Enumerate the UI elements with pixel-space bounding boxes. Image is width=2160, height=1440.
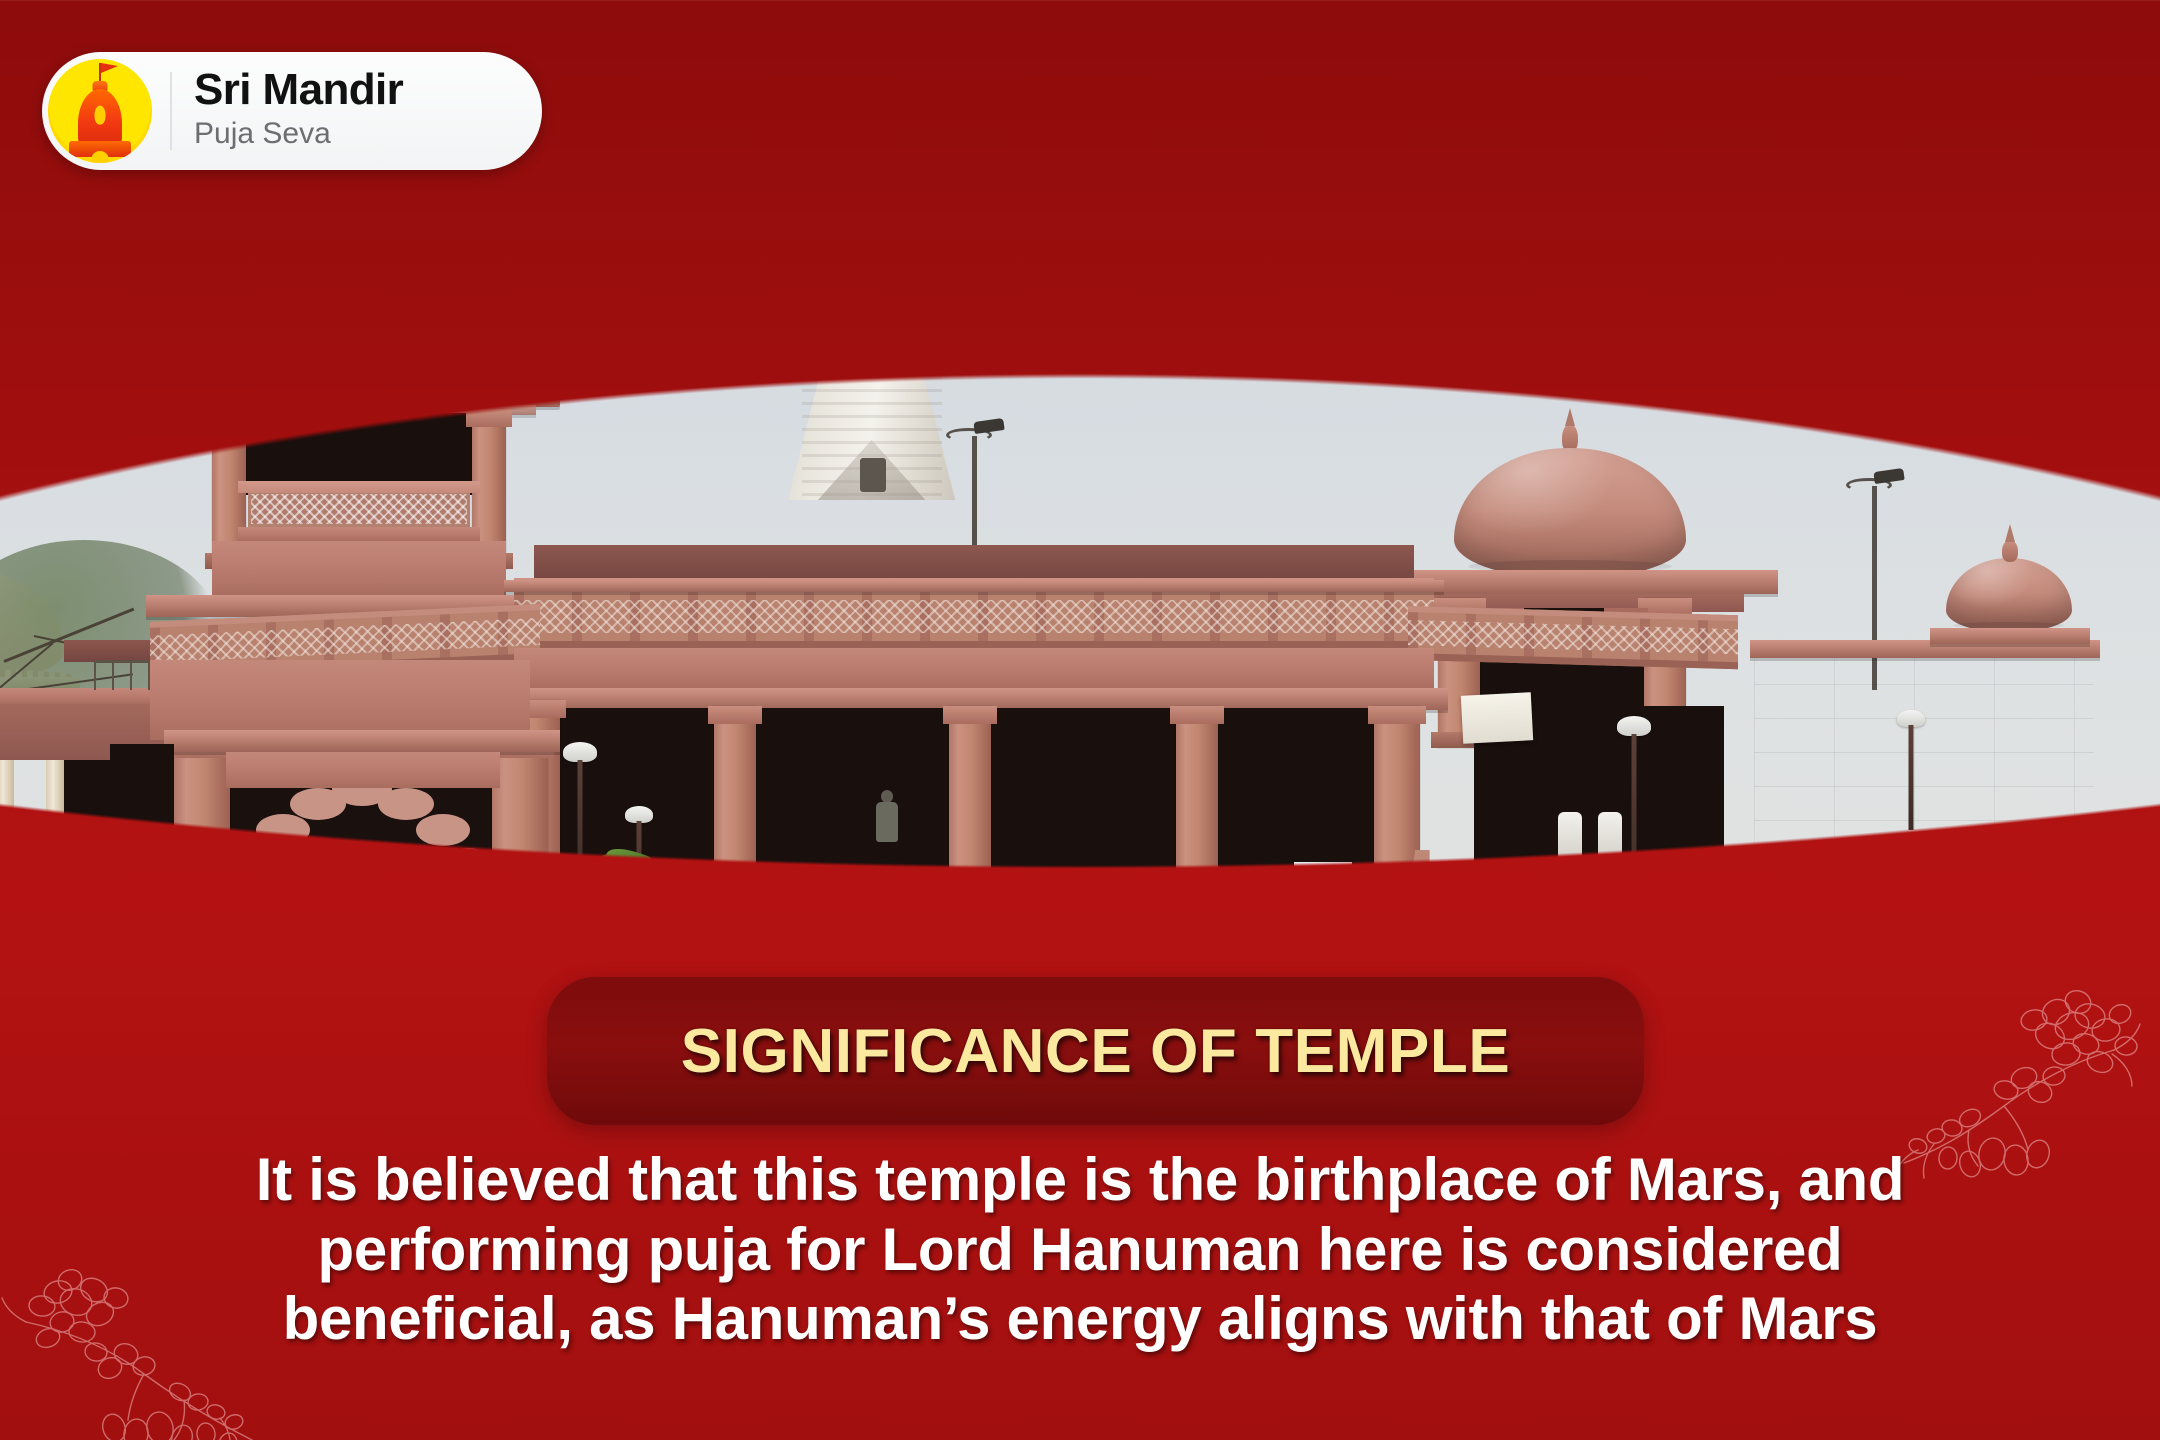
left-entrance-wall xyxy=(150,660,530,740)
arch-lintel xyxy=(164,730,560,752)
notice-board-white xyxy=(1460,692,1532,744)
parapet-jali-right-wing xyxy=(1408,606,1738,669)
brand-title: Sri Mandir xyxy=(194,68,403,113)
visitor xyxy=(202,878,236,966)
sandstone-dome xyxy=(1454,448,1686,578)
pavilion-balcony-rail xyxy=(238,481,480,493)
parapet-top-rail xyxy=(504,580,1444,592)
brand-text-block: Sri Mandir Puja Seva xyxy=(172,68,403,153)
pavilion-balcony-base xyxy=(238,527,480,541)
garden-lamp xyxy=(1614,716,1654,916)
veranda-column xyxy=(949,706,991,886)
description-line-2: performing puja for Lord Hanuman here is… xyxy=(110,1215,2050,1285)
spire-flag-pole xyxy=(860,282,863,352)
pavilion-eave xyxy=(162,381,560,407)
parapet-jali-band xyxy=(514,586,1434,648)
veranda-column xyxy=(1374,706,1420,886)
sri-mandir-temple-logo-icon xyxy=(48,59,152,163)
section-title-text: SIGNIFICANCE OF TEMPLE xyxy=(681,1016,1511,1087)
shikhara-niche xyxy=(860,458,886,492)
garden-lamp xyxy=(1894,710,1928,830)
section-title-banner: SIGNIFICANCE OF TEMPLE xyxy=(547,977,1644,1125)
garden-bench xyxy=(982,938,1094,980)
cusped-arch-entrance xyxy=(228,786,498,1010)
visitor xyxy=(118,880,152,966)
visitor xyxy=(12,872,46,954)
sandstone-dome xyxy=(234,249,474,389)
veranda-column xyxy=(1176,706,1218,886)
visitor xyxy=(54,856,92,956)
far-right-mini-chhatri xyxy=(1934,540,2084,670)
brand-badge[interactable]: Sri Mandir Puja Seva xyxy=(42,52,542,170)
visitor xyxy=(154,862,194,960)
main-facade-band xyxy=(514,648,1434,690)
logo-flag-icon xyxy=(99,63,101,81)
left-dome-pavilion xyxy=(176,205,546,635)
veranda-column xyxy=(714,706,756,886)
spire-lightning-rod xyxy=(890,285,893,347)
poster-canvas: Sri Mandir Puja Seva SIGNIFICANCE OF TEM… xyxy=(0,0,2160,1440)
pavilion-lower-body xyxy=(212,541,506,597)
visitor-silhouette xyxy=(874,790,900,842)
arch-spandrel xyxy=(226,752,500,788)
brand-subtitle: Puja Seva xyxy=(194,115,403,153)
pavilion-jali-screen xyxy=(248,491,470,527)
shrub-plant xyxy=(1844,960,2044,1010)
bollard xyxy=(1558,812,1582,868)
description-line-1: It is believed that this temple is the b… xyxy=(110,1145,2050,1215)
logo-temple-spire xyxy=(78,89,122,145)
right-dome-pavilion xyxy=(1404,418,1744,748)
description-block: It is believed that this temple is the b… xyxy=(110,1145,2050,1354)
shrub-plant xyxy=(566,812,656,972)
logo-temple-door xyxy=(91,151,109,163)
description-line-3: beneficial, as Hanuman’s energy aligns w… xyxy=(110,1284,2050,1354)
shrub-plant xyxy=(1704,930,1834,1010)
